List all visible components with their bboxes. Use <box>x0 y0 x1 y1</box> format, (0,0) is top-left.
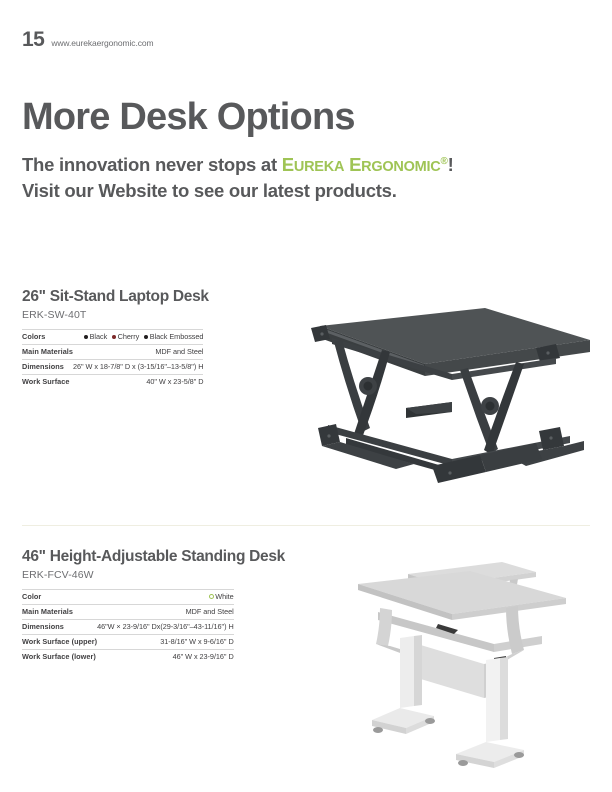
spec-row: ColorWhite <box>22 589 234 604</box>
color-swatch-icon <box>209 594 214 599</box>
spec-table: ColorWhiteMain MaterialsMDF and SteelDim… <box>22 589 234 664</box>
spec-row: Work Surface (lower)46" W x 23-9/16" D <box>22 649 234 664</box>
color-swatch-icon <box>144 335 148 339</box>
spec-row: Dimensions26" W x 18-7/8" D x (3-15/16"–… <box>22 359 203 374</box>
spec-value: 31-8/16" W x 9-6/16" D <box>97 634 234 649</box>
spec-label: Main Materials <box>22 604 97 619</box>
spec-value: 46"W × 23-9/16" Dx(29-3/16"–43-11/16") H <box>97 619 234 634</box>
color-swatch-icon <box>84 335 88 339</box>
spec-value: 46" W x 23-9/16" D <box>97 649 234 664</box>
spec-value: 40" W x 23-5/8" D <box>73 374 203 389</box>
page-title: More Desk Options <box>22 98 355 136</box>
spec-table: ColorsBlackCherryBlack EmbossedMain Mate… <box>22 329 203 389</box>
color-option-label: Black <box>90 332 108 341</box>
height-adjustable-standing-desk-photo <box>334 548 606 772</box>
spec-row: Main MaterialsMDF and Steel <box>22 344 203 359</box>
page-subtitle: The innovation never stops at EUREKA ERG… <box>22 152 597 205</box>
spec-value: MDF and Steel <box>73 344 203 359</box>
product-model-number: ERK-FCV-46W <box>22 569 284 581</box>
product-model-number: ERK-SW-40T <box>22 309 284 321</box>
subtitle-line1-prefix: The innovation never stops at <box>22 154 282 175</box>
brand-ergonomic-rest: RGONOMIC <box>361 159 440 175</box>
color-option: White <box>209 593 234 601</box>
color-option-label: White <box>215 592 233 601</box>
spec-label: Dimensions <box>22 359 73 374</box>
spec-row: Dimensions46"W × 23-9/16" Dx(29-3/16"–43… <box>22 619 234 634</box>
color-option-label: Black Embossed <box>150 332 204 341</box>
spec-label: Work Surface <box>22 374 73 389</box>
color-option-label: Cherry <box>118 332 140 341</box>
registered-trademark-icon: ® <box>441 156 448 167</box>
spec-color-options: White <box>97 589 234 604</box>
page-number: 15 <box>22 28 44 52</box>
color-option: Cherry <box>112 333 139 341</box>
subtitle-line1-suffix: ! <box>448 154 454 175</box>
spec-row: Work Surface (upper)31-8/16" W x 9-6/16"… <box>22 634 234 649</box>
spec-label: Dimensions <box>22 619 97 634</box>
color-option: Black <box>84 333 107 341</box>
section-divider <box>22 525 590 526</box>
spec-row: Main MaterialsMDF and Steel <box>22 604 234 619</box>
brand-eureka-capital: E <box>282 154 294 175</box>
product-block-height-adjustable-standing-desk: 46" Height-Adjustable Standing Desk ERK-… <box>22 548 284 664</box>
spec-label: Color <box>22 589 97 604</box>
spec-label: Main Materials <box>22 344 73 359</box>
spec-label: Colors <box>22 329 73 344</box>
page-header: 15 www.eurekaergonomic.com <box>22 28 153 52</box>
brand-name: EUREKA ERGONOMIC® <box>282 154 448 175</box>
spec-row: Work Surface40" W x 23-5/8" D <box>22 374 203 389</box>
spec-label: Work Surface (upper) <box>22 634 97 649</box>
website-url[interactable]: www.eurekaergonomic.com <box>51 38 153 48</box>
color-option: Black Embossed <box>144 333 203 341</box>
spec-value: 26" W x 18-7/8" D x (3-15/16"–13-5/8") H <box>73 359 203 374</box>
spec-color-options: BlackCherryBlack Embossed <box>73 329 203 344</box>
color-swatch-icon <box>112 335 116 339</box>
product-title: 46" Height-Adjustable Standing Desk <box>22 548 284 566</box>
product-block-sit-stand-laptop-desk: 26" Sit-Stand Laptop Desk ERK-SW-40T Col… <box>22 288 284 389</box>
spec-label: Work Surface (lower) <box>22 649 97 664</box>
subtitle-line2: Visit our Website to see our latest prod… <box>22 180 397 201</box>
sit-stand-laptop-desk-photo <box>284 292 608 507</box>
spec-row: ColorsBlackCherryBlack Embossed <box>22 329 203 344</box>
brand-eureka-rest: UREKA <box>294 159 344 175</box>
spec-value: MDF and Steel <box>97 604 234 619</box>
product-title: 26" Sit-Stand Laptop Desk <box>22 288 284 306</box>
brand-ergonomic-capital: E <box>349 154 361 175</box>
